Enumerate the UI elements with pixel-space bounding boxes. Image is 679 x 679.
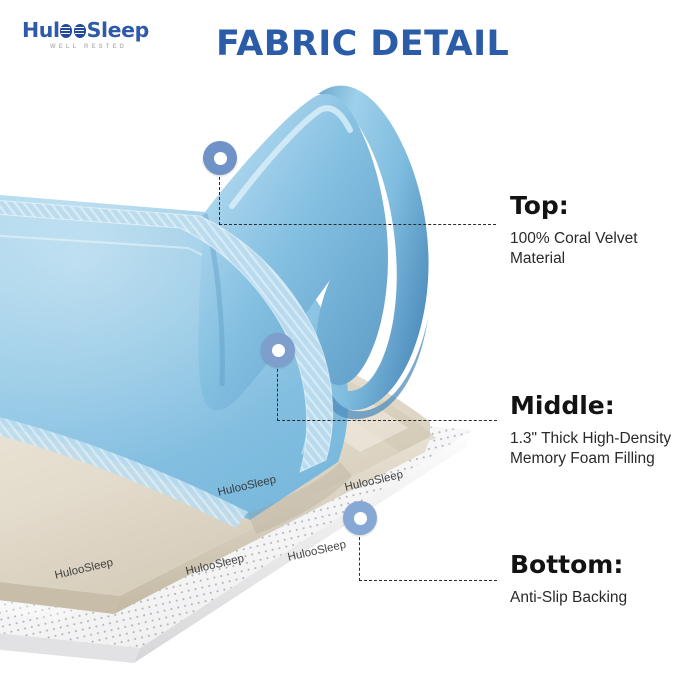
callout-marker-bottom[interactable] [343,501,377,535]
callout-description-top: 100% Coral Velvet Material [510,229,679,269]
brand-wordmark: HulSleep [22,20,149,40]
page-title: FABRIC DETAIL [216,24,516,64]
infographic-canvas: HulooSleep HulooSleep HulooSleep HulooSl… [0,0,679,679]
callout-label-bottom: Bottom: Anti-Slip Backing [510,551,679,608]
callout-marker-center [214,152,227,165]
brand-tagline: WELL RESTED [50,44,127,50]
callout-description-bottom: Anti-Slip Backing [510,588,679,608]
callout-marker-top[interactable] [203,141,237,175]
brand-name-part1: Hul [22,18,60,42]
callout-marker-middle[interactable] [261,333,295,367]
callout-description-middle: 1.3" Thick High-Density Memory Foam Fill… [510,429,679,469]
callout-label-middle: Middle: 1.3" Thick High-Density Memory F… [510,392,679,469]
brand-logo: HulSleep WELL RESTED [22,20,162,58]
callout-heading-top: Top: [510,192,679,220]
callout-marker-center [354,512,367,525]
sleepy-eyes-icon [60,23,87,39]
brand-name-part2: Sleep [87,18,149,42]
callout-heading-bottom: Bottom: [510,551,679,579]
callout-heading-middle: Middle: [510,392,679,420]
callout-marker-center [272,344,285,357]
callout-label-top: Top: 100% Coral Velvet Material [510,192,679,269]
